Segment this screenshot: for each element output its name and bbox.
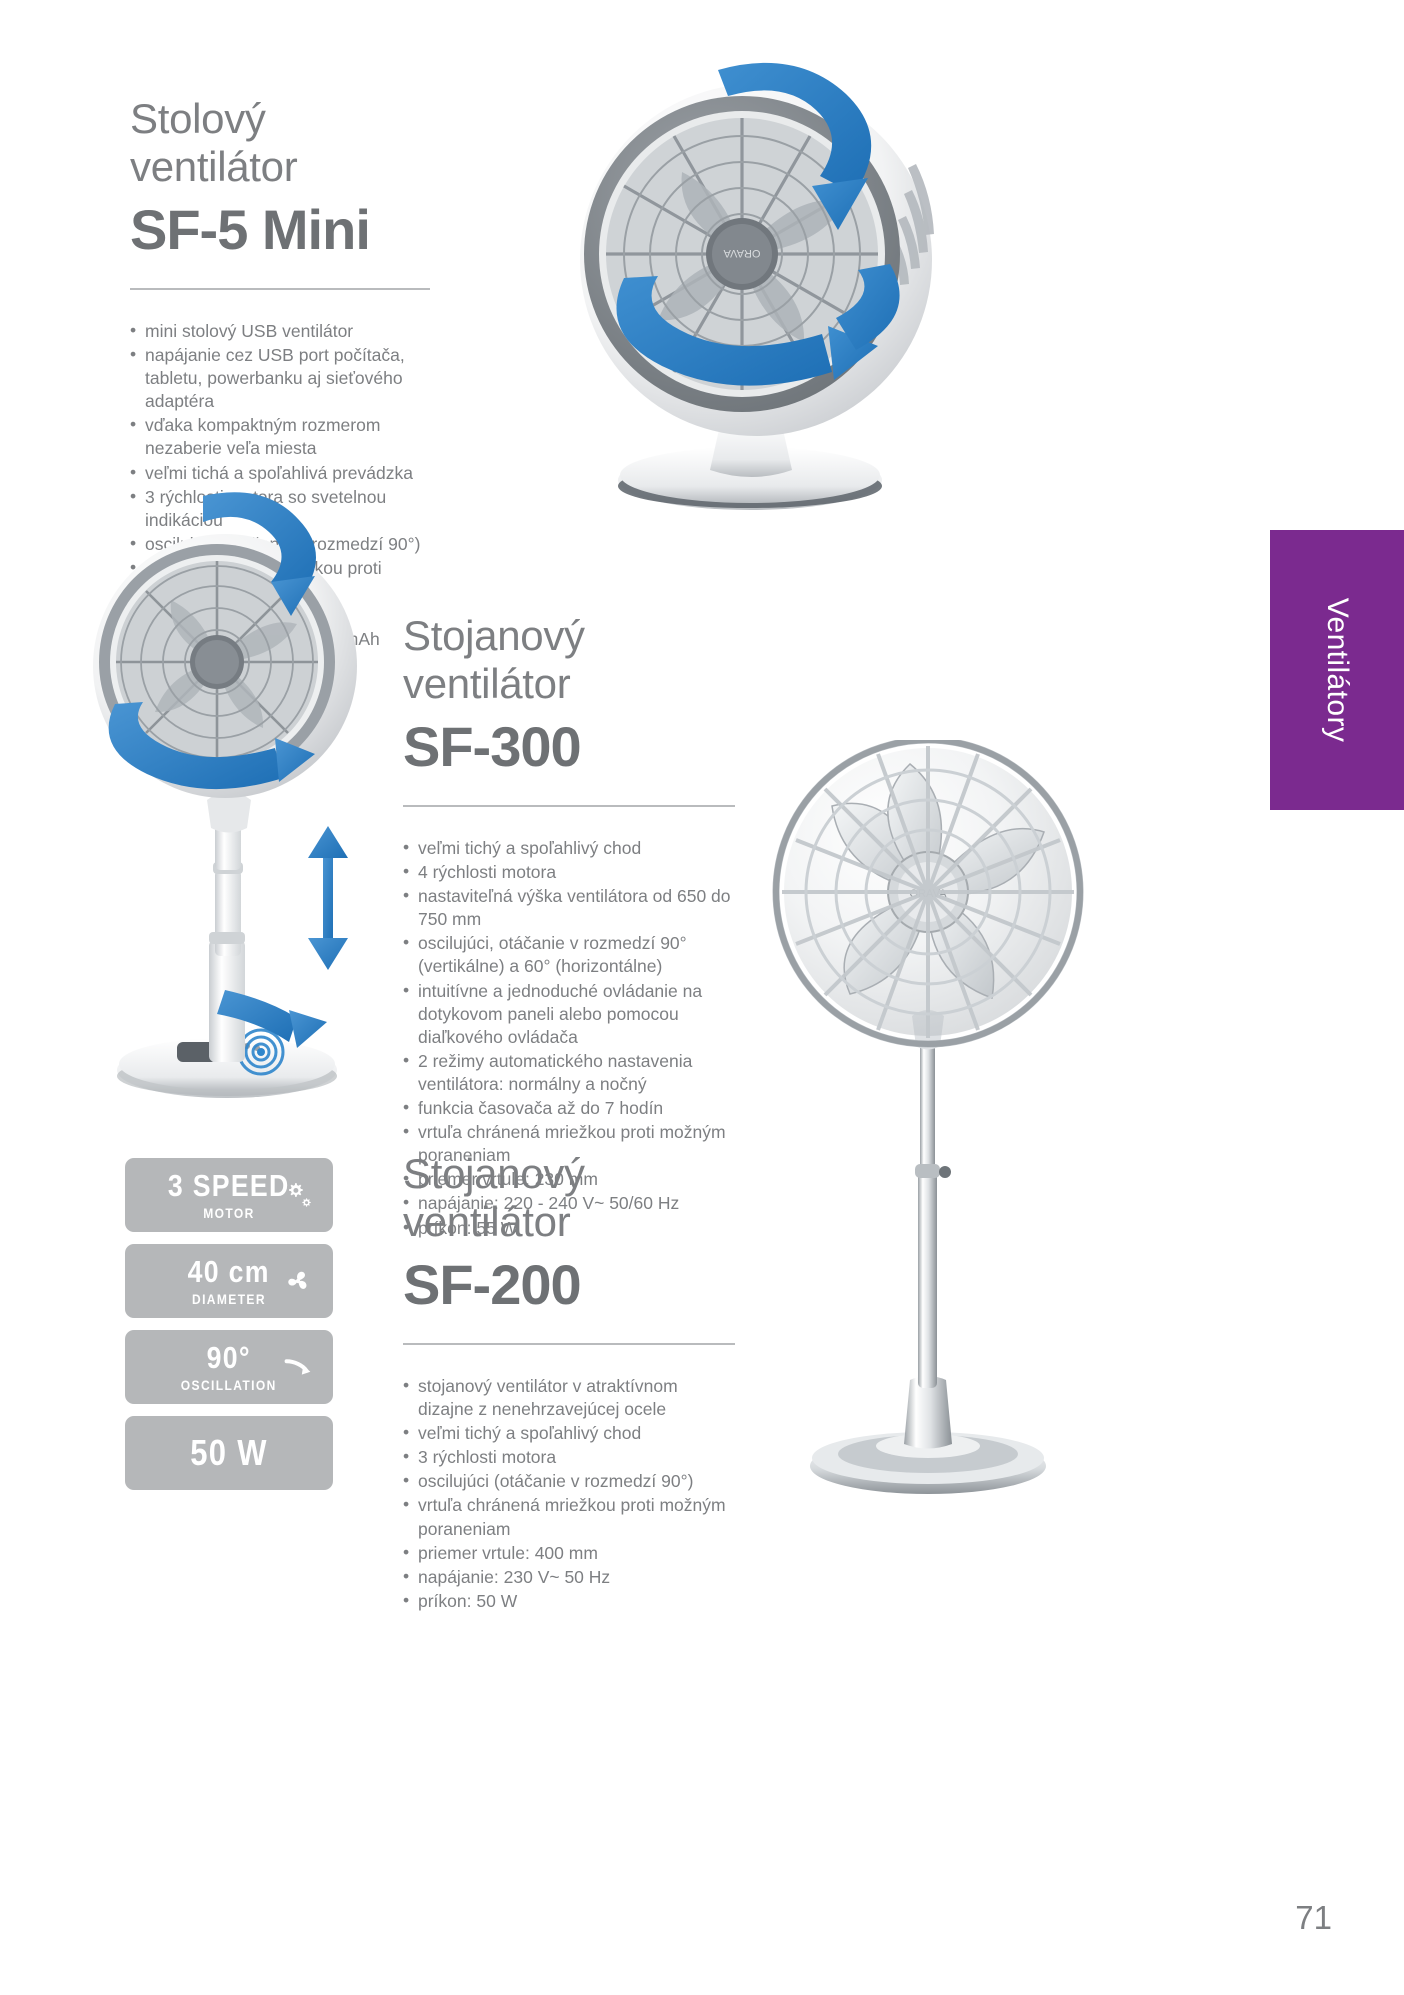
fan-blade-icon xyxy=(279,1262,317,1300)
spec-badge-oscillation: 90° OSCILLATION xyxy=(125,1330,333,1404)
gear-icon xyxy=(279,1176,317,1214)
list-item: príkon: 50 W xyxy=(403,1590,735,1613)
spec-list-sf-200: stojanový ventilátor v atraktívnom dizaj… xyxy=(403,1375,735,1613)
spec-badge-value: 40 cm xyxy=(188,1256,270,1287)
spec-badge-label: OSCILLATION xyxy=(181,1377,277,1393)
product-kicker: Stojanový ventilátor xyxy=(403,612,735,708)
divider xyxy=(130,288,430,290)
list-item: oscilujúci, otáčanie v rozmedzí 90° (ver… xyxy=(403,932,735,978)
product-model: SF-300 xyxy=(403,714,735,779)
list-item: veľmi tichý a spoľahlivý chod xyxy=(403,1422,735,1445)
spec-badge-value: 50 W xyxy=(190,1435,267,1471)
spec-badge-label: DIAMETER xyxy=(192,1291,266,1307)
divider xyxy=(403,1343,735,1345)
category-side-tab: Ventilátory xyxy=(1270,530,1404,810)
product-photo-sf-300 xyxy=(75,470,385,1120)
list-item: mini stolový USB ventilátor xyxy=(130,320,430,343)
list-item: nastaviteľná výška ventilátora od 650 do… xyxy=(403,885,735,931)
list-item: intuitívne a jednoduché ovládanie na dot… xyxy=(403,980,735,1049)
divider xyxy=(403,805,735,807)
product-model: SF-200 xyxy=(403,1252,735,1317)
list-item: 4 rýchlosti motora xyxy=(403,861,735,884)
spec-badge-group: 3 SPEED MOTOR 40 cm DIAMETER xyxy=(125,1158,333,1502)
spec-badge-value: 90° xyxy=(207,1342,251,1373)
list-item: oscilujúci (otáčanie v rozmedzí 90°) xyxy=(403,1470,735,1493)
product-block-sf-300: Stojanový ventilátor SF-300 veľmi tichý … xyxy=(403,612,735,1241)
arrow-sweep-icon xyxy=(279,1348,317,1386)
catalog-page: Stolový ventilátor SF-5 Mini mini stolov… xyxy=(0,0,1404,1995)
product-photo-sf5-mini: ORAVA xyxy=(560,20,980,520)
list-item: napájanie: 230 V~ 50 Hz xyxy=(403,1566,735,1589)
product-block-sf-200: Stojanový ventilátor SF-200 stojanový ve… xyxy=(403,1150,735,1614)
list-item: priemer vrtule: 400 mm xyxy=(403,1542,735,1565)
spec-badge-diameter: 40 cm DIAMETER xyxy=(125,1244,333,1318)
spec-badge-motor: 3 SPEED MOTOR xyxy=(125,1158,333,1232)
list-item: 3 rýchlosti motora xyxy=(403,1446,735,1469)
product-kicker: Stojanový ventilátor xyxy=(403,1150,735,1246)
spec-badge-value: 3 SPEED xyxy=(168,1170,290,1201)
page-number: 71 xyxy=(1295,1899,1332,1937)
spec-badge-power: 50 W xyxy=(125,1416,333,1490)
spec-badge-label: MOTOR xyxy=(203,1205,254,1221)
product-photo-sf-200: ORAVA xyxy=(760,740,1090,1500)
list-item: napájanie cez USB port počítača, tabletu… xyxy=(130,344,430,413)
product-kicker: Stolový ventilátor xyxy=(130,95,430,191)
list-item: veľmi tichý a spoľahlivý chod xyxy=(403,837,735,860)
svg-text:ORAVA: ORAVA xyxy=(723,247,761,259)
list-item: funkcia časovača až do 7 hodín xyxy=(403,1097,735,1120)
list-item: vrtuľa chránená mriežkou proti možným po… xyxy=(403,1494,735,1540)
list-item: vďaka kompaktným rozmerom nezaberie veľa… xyxy=(130,414,430,460)
list-item: 2 režimy automatického nastavenia ventil… xyxy=(403,1050,735,1096)
product-model: SF-5 Mini xyxy=(130,197,430,262)
category-side-tab-label: Ventilátory xyxy=(1320,598,1354,742)
list-item: stojanový ventilátor v atraktívnom dizaj… xyxy=(403,1375,735,1421)
